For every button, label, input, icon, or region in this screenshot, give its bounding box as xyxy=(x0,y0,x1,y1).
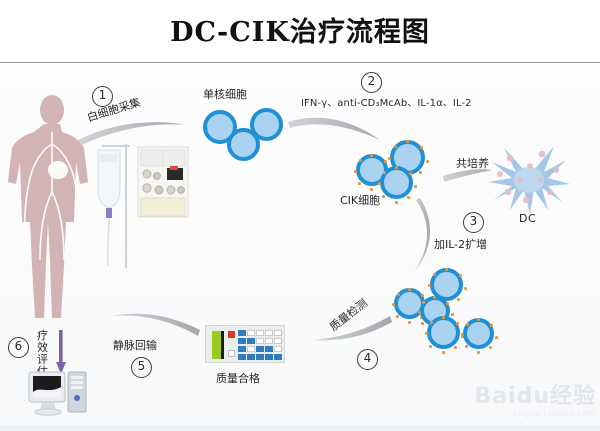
step-5-number: 5 xyxy=(131,357,152,378)
step-4-number: 4 xyxy=(357,349,378,370)
report-grid xyxy=(238,330,282,360)
dendritic-cell-icon xyxy=(486,142,572,216)
quality-report-card-icon xyxy=(205,325,285,363)
dc-cell-label: DC xyxy=(519,212,536,225)
cik-cell-label: CIK细胞 xyxy=(340,192,380,208)
watermark-brand: Baidu经验 xyxy=(474,386,596,408)
coculture-label: 共培养 xyxy=(456,155,489,171)
step-3-number: 3 xyxy=(463,212,484,233)
page-title: DC-CIK治疗流程图 xyxy=(0,10,600,49)
step-5-label: 静脉回输 xyxy=(113,337,157,353)
computer-workstation-icon xyxy=(28,368,90,420)
report-green-bar xyxy=(212,331,224,359)
monocyte-cluster-icon xyxy=(203,106,289,164)
watermark: Baidu经验 jingyan.baidu.com xyxy=(474,386,596,419)
step-2-number: 2 xyxy=(361,72,382,93)
human-body-icon xyxy=(8,92,96,332)
footer-bar xyxy=(0,425,600,431)
watermark-url: jingyan.baidu.com xyxy=(474,410,596,419)
cik-expanded-cluster-icon xyxy=(394,268,498,352)
report-white-marker xyxy=(228,350,235,357)
step-6-number: 6 xyxy=(8,337,29,358)
diagram-canvas: DC-CIK治疗流程图 xyxy=(0,0,600,431)
step-3-label: 加IL-2扩增 xyxy=(434,236,487,252)
report-red-marker xyxy=(228,331,235,338)
quality-pass-label: 质量合格 xyxy=(216,370,260,386)
step-2-label: IFN-γ、anti-CD₃McAb、IL-1α、IL-2 xyxy=(301,94,472,109)
apheresis-machine-icon xyxy=(137,146,189,218)
monocyte-label: 单核细胞 xyxy=(203,86,247,102)
iv-drip-icon xyxy=(86,140,138,270)
